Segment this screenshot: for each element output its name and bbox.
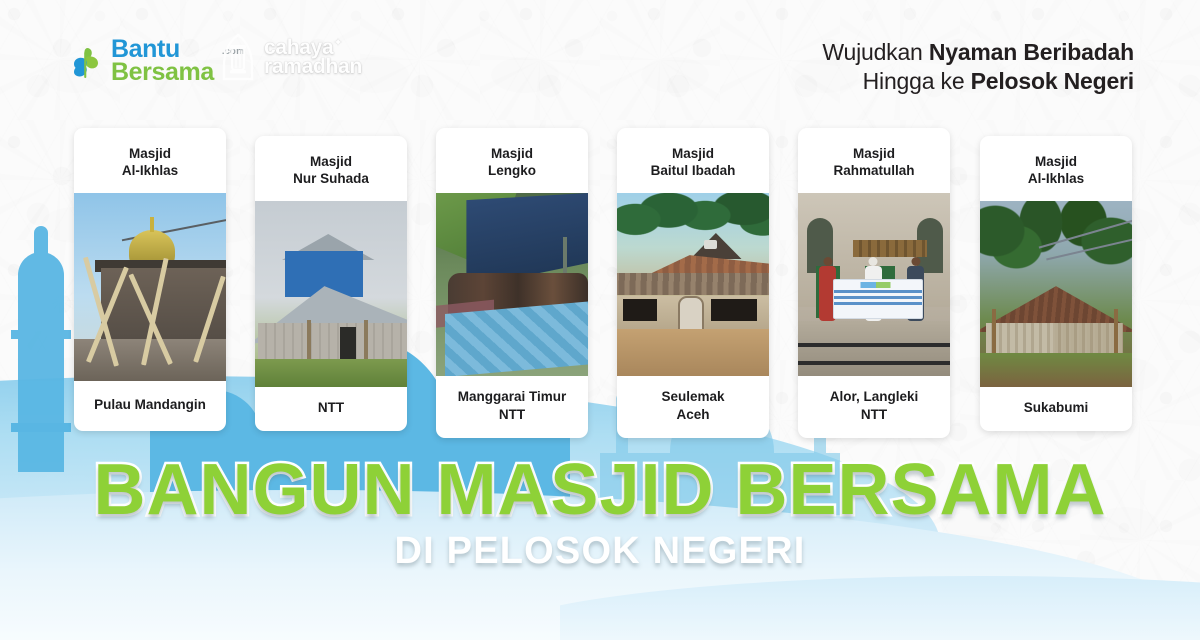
mosque-card-3[interactable]: Masjid Lengko Manggarai Timur NTT <box>436 128 588 438</box>
mosque-card-2[interactable]: Masjid Nur Suhada NTT <box>255 136 407 431</box>
tagline-line-2: Hingga ke Pelosok Negeri <box>822 67 1134 96</box>
card-photo <box>74 193 226 381</box>
headline-sub: DI PELOSOK NEGERI <box>0 532 1200 570</box>
photo-men-with-donation-banner <box>798 193 950 377</box>
photo-bamboo-mosque-tiled-roof <box>980 201 1132 387</box>
logo-line-bersama: Bersama <box>111 61 214 84</box>
cahaya-ramadhan-logo[interactable]: cahaya✦ ramadhan <box>218 32 362 84</box>
leaf-plant-icon <box>70 42 104 80</box>
card-caption: NTT <box>255 387 407 431</box>
headline-main: BANGUN MASJID BERSAMA <box>0 454 1200 526</box>
mosque-card-5[interactable]: Masjid Rahmatullah <box>798 128 950 438</box>
card-photo <box>798 193 950 377</box>
photo-mosque-under-construction <box>74 193 226 381</box>
photo-mosque-rusty-roof-palms <box>617 193 769 377</box>
card-photo <box>617 193 769 377</box>
card-title: Masjid Rahmatullah <box>798 128 950 193</box>
banner-header: Bantu Bersama .com cahaya✦ ramadhan <box>0 0 1200 116</box>
card-caption: Manggarai Timur NTT <box>436 376 588 438</box>
card-title: Masjid Baitul Ibadah <box>617 128 769 193</box>
card-caption: Alor, Langleki NTT <box>798 376 950 438</box>
lantern-icon <box>218 32 258 84</box>
card-title: Masjid Lengko <box>436 128 588 193</box>
card-photo <box>980 201 1132 387</box>
mosque-card-row: Masjid Al-Ikhlas Pulau Mandangin Masjid … <box>0 128 1200 448</box>
bantubersama-wordmark: Bantu Bersama .com <box>111 38 214 84</box>
header-tagline: Wujudkan Nyaman Beribadah Hingga ke Pelo… <box>822 38 1134 96</box>
card-title: Masjid Al-Ikhlas <box>980 136 1132 201</box>
photo-congregation-under-tarp <box>436 193 588 377</box>
card-photo <box>255 201 407 387</box>
card-title: Masjid Nur Suhada <box>255 136 407 201</box>
star-icon: ✦ <box>333 37 342 49</box>
photo-wooden-mosque-blue-tower <box>255 201 407 387</box>
mosque-card-6[interactable]: Masjid Al-Ikhlas Sukabumi <box>980 136 1132 431</box>
card-photo <box>436 193 588 377</box>
card-title: Masjid Al-Ikhlas <box>74 128 226 193</box>
promo-banner: Bantu Bersama .com cahaya✦ ramadhan <box>0 0 1200 640</box>
tagline-line-1: Wujudkan Nyaman Beribadah <box>822 38 1134 67</box>
card-caption: Sukabumi <box>980 387 1132 431</box>
mosque-card-4[interactable]: Masjid Baitul Ibadah Seulemak Aceh <box>617 128 769 438</box>
headline-block: BANGUN MASJID BERSAMA DI PELOSOK NEGERI <box>0 454 1200 570</box>
card-caption: Pulau Mandangin <box>74 381 226 431</box>
card-caption: Seulemak Aceh <box>617 376 769 438</box>
mosque-card-1[interactable]: Masjid Al-Ikhlas Pulau Mandangin <box>74 128 226 431</box>
bantubersama-logo[interactable]: Bantu Bersama .com <box>70 38 214 84</box>
cahaya-line-2: ramadhan <box>264 58 362 77</box>
cahaya-ramadhan-wordmark: cahaya✦ ramadhan <box>264 39 362 77</box>
